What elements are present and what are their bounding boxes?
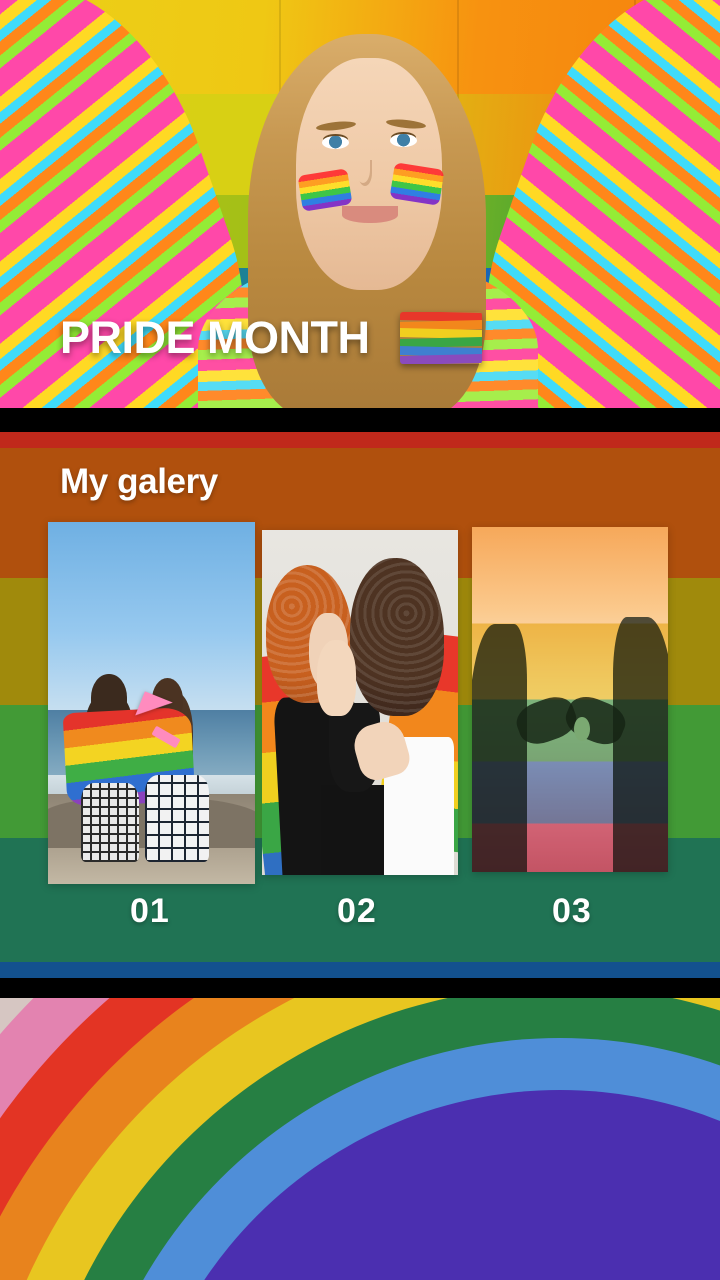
divider-band-red (0, 432, 720, 448)
gallery-photo-02[interactable] (262, 530, 458, 875)
rainbow-face-paint-right (389, 162, 444, 205)
divider-band-black-top (0, 408, 720, 432)
hand-covering-face (317, 640, 356, 716)
person-b-dress (145, 775, 209, 862)
person-b-hair-texture (350, 558, 444, 717)
page-title: PRIDE MONTH (60, 312, 370, 364)
hero-section: PRIDE MONTH (0, 0, 720, 408)
person-a-pants (321, 785, 392, 875)
eye-right (390, 134, 417, 147)
gallery-number-03: 03 (552, 892, 592, 931)
pride-flag-stripe (400, 354, 482, 364)
gallery-photo-03[interactable] (472, 527, 668, 872)
gallery-heading: My galery (60, 462, 218, 502)
gallery-number-01: 01 (130, 892, 170, 931)
nose (358, 160, 372, 186)
rainbow-pride-flag-icon (400, 312, 482, 364)
bottom-rainbow-graphic (0, 998, 720, 1280)
gallery-number-02: 02 (337, 892, 377, 931)
divider-band-blue (0, 962, 720, 978)
divider-band-black-bottom (0, 978, 720, 998)
mouth (342, 206, 398, 223)
gallery-photo-01[interactable] (48, 522, 255, 884)
hero-title-row: PRIDE MONTH (60, 312, 482, 364)
person-a-dress (81, 783, 139, 863)
rainbow-color-overlay (472, 527, 668, 872)
eye-left (322, 136, 349, 149)
pride-month-story-canvas: PRIDE MONTH My galery (0, 0, 720, 1280)
